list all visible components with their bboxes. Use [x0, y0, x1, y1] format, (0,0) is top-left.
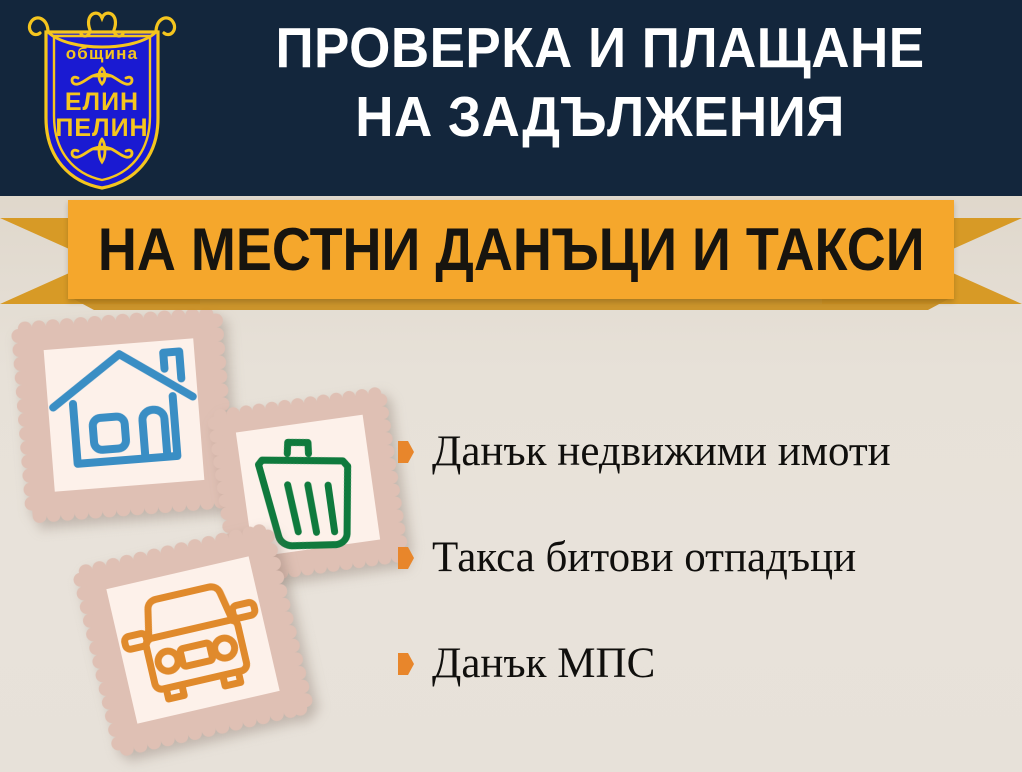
list-item: Данък недвижими имоти	[398, 424, 1008, 480]
tax-type-list: Данък недвижими имоти Такса битови отпад…	[398, 424, 1008, 692]
svg-text:ЕЛИН: ЕЛИН	[65, 88, 139, 116]
vehicle-stamp	[68, 519, 318, 761]
coat-of-arms-logo: община ЕЛИН ПЕЛИН	[18, 6, 186, 192]
bullet-arrow-icon	[398, 547, 414, 569]
list-item-label: Данък МПС	[432, 641, 655, 687]
list-item-label: Такса битови отпадъци	[432, 535, 856, 581]
list-item-label: Данък недвижими имоти	[432, 429, 891, 475]
header-bar: община ЕЛИН ПЕЛИН ПРОВЕРКА И ПЛАЩАНЕ НА …	[0, 0, 1022, 196]
bullet-arrow-icon	[398, 653, 414, 675]
poster-title: ПРОВЕРКА И ПЛАЩАНЕ НА ЗАДЪЛЖЕНИЯ	[190, 14, 1010, 152]
svg-text:ПЕЛИН: ПЕЛИН	[55, 114, 148, 142]
svg-text:община: община	[66, 44, 139, 63]
title-line-2: НА ЗАДЪЛЖЕНИЯ	[219, 83, 982, 152]
list-item: Данък МПС	[398, 636, 1008, 692]
title-line-1: ПРОВЕРКА И ПЛАЩАНЕ	[219, 14, 982, 83]
bullet-arrow-icon	[398, 441, 414, 463]
list-item: Такса битови отпадъци	[398, 530, 1008, 586]
ribbon-banner: НА МЕСТНИ ДАНЪЦИ И ТАКСИ	[68, 200, 954, 299]
ribbon-label: НА МЕСТНИ ДАНЪЦИ И ТАКСИ	[98, 220, 925, 280]
subtitle-ribbon: НА МЕСТНИ ДАНЪЦИ И ТАКСИ	[0, 196, 1022, 314]
poster-canvas: община ЕЛИН ПЕЛИН ПРОВЕРКА И ПЛАЩАНЕ НА …	[0, 0, 1022, 772]
